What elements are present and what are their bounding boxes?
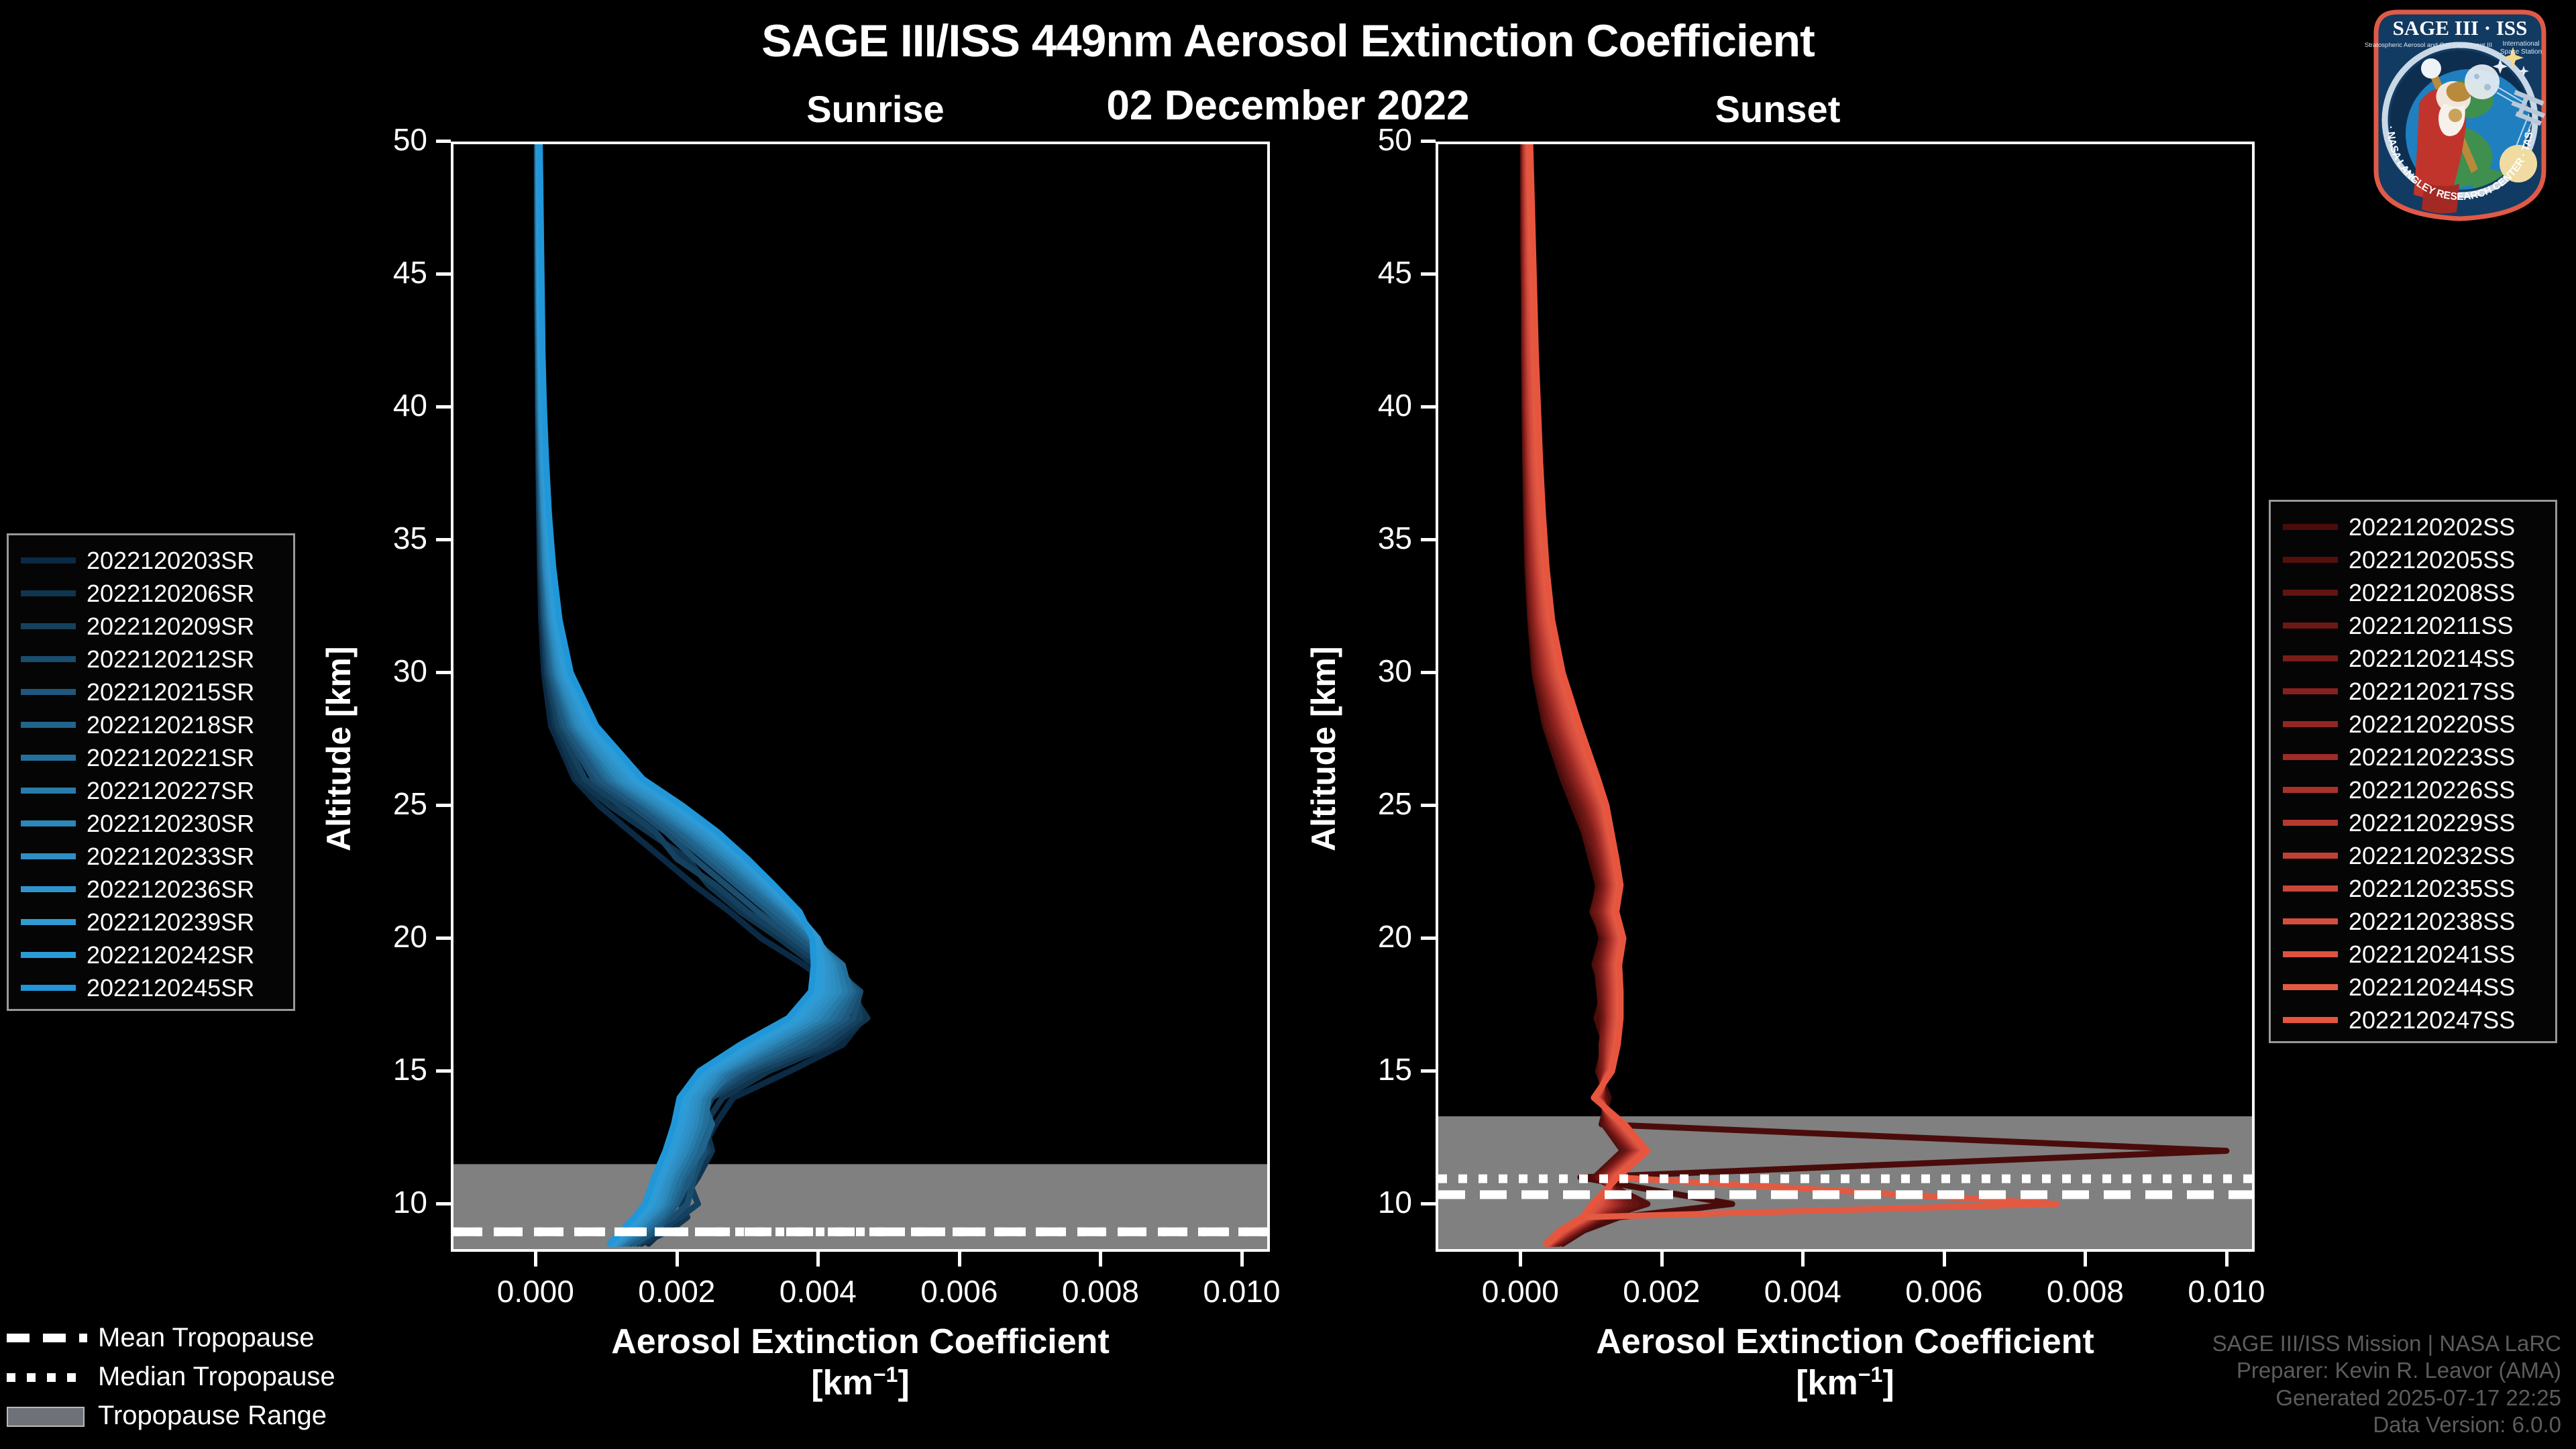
y-tickmark bbox=[1421, 405, 1436, 409]
logo-subtitle-right-2: Space Station bbox=[2500, 48, 2542, 56]
legend-item-label: 2022120233SR bbox=[87, 843, 288, 871]
legend-item[interactable]: 2022120209SR bbox=[9, 610, 293, 643]
y-tick-label: 45 bbox=[337, 254, 427, 290]
y-tickmark bbox=[1421, 140, 1436, 143]
sage-iii-iss-mission-logo: SAGE III · ISS Stratospheric Aerosol and… bbox=[2349, 3, 2571, 224]
legend-color-swatch bbox=[2283, 524, 2338, 530]
profile-line bbox=[1523, 144, 2226, 1244]
legend-item[interactable]: 2022120221SR bbox=[9, 741, 293, 774]
x-tickmark bbox=[1660, 1252, 1664, 1267]
x-tickmark bbox=[1519, 1252, 1522, 1267]
page-title: SAGE III/ISS 449nm Aerosol Extinction Co… bbox=[0, 15, 2576, 67]
y-tickmark bbox=[436, 140, 451, 143]
y-tick-label: 50 bbox=[337, 121, 427, 158]
legend-color-swatch bbox=[21, 820, 76, 826]
legend-color-swatch bbox=[2283, 590, 2338, 596]
legend-item[interactable]: 2022120214SS bbox=[2271, 642, 2555, 675]
legend-item-label: 2022120209SR bbox=[87, 612, 288, 641]
legend-color-swatch bbox=[2283, 918, 2338, 924]
credits-block: SAGE III/ISS Mission | NASA LaRC Prepare… bbox=[2212, 1330, 2561, 1438]
legend-item-label: 2022120205SS bbox=[2349, 546, 2550, 574]
legend-color-swatch bbox=[2283, 754, 2338, 760]
x-tick-label: 0.002 bbox=[596, 1273, 757, 1309]
legend-item[interactable]: 2022120230SR bbox=[9, 807, 293, 840]
legend-item-label: 2022120227SR bbox=[87, 777, 288, 805]
legend-color-swatch bbox=[2283, 623, 2338, 629]
legend-color-swatch bbox=[21, 689, 76, 695]
legend-color-swatch bbox=[2283, 984, 2338, 990]
x-tick-label: 0.008 bbox=[2004, 1273, 2165, 1309]
legend-item-label: 2022120220SS bbox=[2349, 710, 2550, 739]
legend-item-median-tropopause: Median Tropopause bbox=[7, 1357, 369, 1396]
x-axis-label-line1: Aerosol Extinction Coefficient bbox=[451, 1322, 1270, 1362]
legend-item-label: 2022120215SR bbox=[87, 678, 288, 706]
y-tickmark bbox=[436, 272, 451, 276]
legend-label-mean-tropopause: Mean Tropopause bbox=[98, 1323, 314, 1353]
y-tick-label: 40 bbox=[337, 387, 427, 423]
tropopause-legend: Mean Tropopause Median Tropopause Tropop… bbox=[7, 1318, 369, 1435]
legend-item-label: 2022120223SS bbox=[2349, 743, 2550, 771]
x-tickmark bbox=[1240, 1252, 1244, 1267]
x-tickmark bbox=[534, 1252, 537, 1267]
plot-canvas-sunrise bbox=[453, 144, 1267, 1249]
x-tickmark bbox=[2084, 1252, 2087, 1267]
legend-item[interactable]: 2022120212SR bbox=[9, 643, 293, 676]
y-tick-label: 15 bbox=[1322, 1051, 1412, 1087]
legend-item-label: 2022120244SS bbox=[2349, 973, 2550, 1002]
legend-item-tropopause-range: Tropopause Range bbox=[7, 1396, 369, 1435]
legend-item[interactable]: 2022120247SS bbox=[2271, 1004, 2555, 1036]
y-tickmark bbox=[436, 405, 451, 409]
x-tickmark bbox=[1099, 1252, 1102, 1267]
legend-color-swatch bbox=[2283, 787, 2338, 793]
legend-item[interactable]: 2022120239SR bbox=[9, 906, 293, 938]
y-tick-label: 35 bbox=[337, 520, 427, 556]
legend-color-swatch bbox=[2283, 820, 2338, 826]
series-legend-sunset[interactable]: 2022120202SS2022120205SS2022120208SS2022… bbox=[2269, 500, 2557, 1043]
legend-item[interactable]: 2022120202SS bbox=[2271, 511, 2555, 543]
legend-item[interactable]: 2022120205SS bbox=[2271, 543, 2555, 576]
x-tick-label: 0.004 bbox=[1722, 1273, 1883, 1309]
legend-item[interactable]: 2022120218SR bbox=[9, 708, 293, 741]
y-tickmark bbox=[436, 804, 451, 807]
sunset-panel-label: Sunset bbox=[1677, 87, 1878, 131]
y-tickmark bbox=[1421, 804, 1436, 807]
x-tickmark bbox=[676, 1252, 679, 1267]
credit-line-2: Preparer: Kevin R. Leavor (AMA) bbox=[2212, 1357, 2561, 1384]
legend-color-swatch bbox=[21, 755, 76, 761]
x-tick-label: 0.004 bbox=[737, 1273, 898, 1309]
legend-label-median-tropopause: Median Tropopause bbox=[98, 1362, 335, 1392]
legend-item-label: 2022120238SS bbox=[2349, 908, 2550, 936]
legend-color-swatch bbox=[2283, 655, 2338, 661]
legend-color-swatch bbox=[21, 788, 76, 794]
y-tickmark bbox=[1421, 936, 1436, 940]
legend-item[interactable]: 2022120232SS bbox=[2271, 839, 2555, 872]
legend-item[interactable]: 2022120242SR bbox=[9, 938, 293, 971]
y-tickmark bbox=[1421, 1069, 1436, 1073]
x-tickmark bbox=[816, 1252, 820, 1267]
legend-item-label: 2022120232SS bbox=[2349, 842, 2550, 870]
x-axis-label-line1: Aerosol Extinction Coefficient bbox=[1436, 1322, 2255, 1362]
y-tickmark bbox=[436, 1202, 451, 1205]
legend-item-label: 2022120211SS bbox=[2349, 612, 2550, 640]
legend-item[interactable]: 2022120244SS bbox=[2271, 971, 2555, 1004]
legend-color-swatch bbox=[21, 623, 76, 629]
legend-item[interactable]: 2022120229SS bbox=[2271, 806, 2555, 839]
y-tick-label: 35 bbox=[1322, 520, 1412, 556]
series-legend-sunrise[interactable]: 2022120203SR2022120206SR2022120209SR2022… bbox=[7, 533, 295, 1011]
legend-item-mean-tropopause: Mean Tropopause bbox=[7, 1318, 369, 1357]
filled-box-icon bbox=[7, 1407, 87, 1424]
legend-item-label: 2022120245SR bbox=[87, 974, 288, 1002]
legend-color-swatch bbox=[2283, 1017, 2338, 1023]
legend-item[interactable]: 2022120223SS bbox=[2271, 741, 2555, 773]
legend-color-swatch bbox=[21, 886, 76, 892]
legend-color-swatch bbox=[21, 952, 76, 958]
x-tickmark bbox=[1801, 1252, 1805, 1267]
legend-color-swatch bbox=[2283, 853, 2338, 859]
x-axis-label: Aerosol Extinction Coefficient[km−1] bbox=[451, 1322, 1270, 1403]
x-tick-label: 0.010 bbox=[2146, 1273, 2307, 1309]
legend-color-swatch bbox=[21, 853, 76, 859]
x-tick-label: 0.000 bbox=[1440, 1273, 1601, 1309]
y-tickmark bbox=[1421, 538, 1436, 541]
y-tick-label: 45 bbox=[1322, 254, 1412, 290]
sunrise-panel-label: Sunrise bbox=[775, 87, 976, 131]
legend-color-swatch bbox=[2283, 557, 2338, 563]
legend-item[interactable]: 2022120215SR bbox=[9, 676, 293, 708]
legend-item-label: 2022120235SS bbox=[2349, 875, 2550, 903]
legend-item-label: 2022120241SS bbox=[2349, 941, 2550, 969]
legend-color-swatch bbox=[21, 919, 76, 925]
credit-line-3: Generated 2025-07-17 22:25 bbox=[2212, 1385, 2561, 1411]
legend-item-label: 2022120203SR bbox=[87, 547, 288, 575]
credit-line-4: Data Version: 6.0.0 bbox=[2212, 1411, 2561, 1438]
legend-item[interactable]: 2022120245SR bbox=[9, 971, 293, 1004]
legend-item[interactable]: 2022120238SS bbox=[2271, 905, 2555, 938]
plot-canvas-sunset bbox=[1438, 144, 2252, 1249]
legend-color-swatch bbox=[2283, 885, 2338, 892]
legend-item-label: 2022120202SS bbox=[2349, 513, 2550, 541]
legend-item-label: 2022120239SR bbox=[87, 908, 288, 936]
legend-color-swatch bbox=[21, 590, 76, 596]
x-axis-label-units: [km−1] bbox=[1436, 1362, 2255, 1403]
legend-color-swatch bbox=[2283, 951, 2338, 957]
legend-item-label: 2022120212SR bbox=[87, 645, 288, 674]
legend-item-label: 2022120218SR bbox=[87, 711, 288, 739]
x-axis-label: Aerosol Extinction Coefficient[km−1] bbox=[1436, 1322, 2255, 1403]
credit-line-1: SAGE III/ISS Mission | NASA LaRC bbox=[2212, 1330, 2561, 1357]
y-axis-label: Altitude [km] bbox=[1304, 646, 1343, 851]
logo-title: SAGE III · ISS bbox=[2393, 16, 2528, 40]
x-tick-label: 0.000 bbox=[455, 1273, 616, 1309]
legend-label-tropopause-range: Tropopause Range bbox=[98, 1401, 327, 1431]
x-tickmark bbox=[958, 1252, 961, 1267]
y-tickmark bbox=[436, 1069, 451, 1073]
legend-item-label: 2022120226SS bbox=[2349, 776, 2550, 804]
legend-item-label: 2022120214SS bbox=[2349, 645, 2550, 673]
legend-color-swatch bbox=[21, 722, 76, 728]
legend-item-label: 2022120247SS bbox=[2349, 1006, 2550, 1034]
y-tick-label: 20 bbox=[1322, 918, 1412, 955]
legend-item[interactable]: 2022120227SR bbox=[9, 774, 293, 807]
y-tick-label: 10 bbox=[337, 1184, 427, 1220]
legend-item[interactable]: 2022120233SR bbox=[9, 840, 293, 873]
x-tick-label: 0.006 bbox=[879, 1273, 1040, 1309]
y-tickmark bbox=[1421, 1202, 1436, 1205]
y-tick-label: 40 bbox=[1322, 387, 1412, 423]
y-tickmark bbox=[436, 538, 451, 541]
x-tick-label: 0.002 bbox=[1581, 1273, 1742, 1309]
legend-item[interactable]: 2022120217SS bbox=[2271, 675, 2555, 708]
legend-item-label: 2022120229SS bbox=[2349, 809, 2550, 837]
logo-subtitle-right-1: International bbox=[2502, 40, 2539, 48]
y-tickmark bbox=[1421, 272, 1436, 276]
legend-color-swatch bbox=[21, 656, 76, 662]
legend-color-swatch bbox=[2283, 721, 2338, 727]
y-tickmark bbox=[436, 671, 451, 674]
legend-item-label: 2022120206SR bbox=[87, 580, 288, 608]
legend-item-label: 2022120236SR bbox=[87, 875, 288, 904]
legend-item-label: 2022120242SR bbox=[87, 941, 288, 969]
legend-item[interactable]: 2022120235SS bbox=[2271, 872, 2555, 905]
x-tick-label: 0.008 bbox=[1020, 1273, 1181, 1309]
legend-item[interactable]: 2022120208SS bbox=[2271, 576, 2555, 609]
legend-item[interactable]: 2022120206SR bbox=[9, 577, 293, 610]
y-tickmark bbox=[1421, 671, 1436, 674]
x-tickmark bbox=[2225, 1252, 2229, 1267]
logo-subtitle-left: Stratospheric Aerosol and Gas Experiment… bbox=[2365, 42, 2492, 49]
y-tick-label: 50 bbox=[1322, 121, 1412, 158]
legend-item-label: 2022120230SR bbox=[87, 810, 288, 838]
y-tick-label: 15 bbox=[337, 1051, 427, 1087]
legend-color-swatch bbox=[21, 985, 76, 991]
y-axis-label: Altitude [km] bbox=[319, 646, 358, 851]
x-tickmark bbox=[1943, 1252, 1946, 1267]
legend-item[interactable]: 2022120236SR bbox=[9, 873, 293, 906]
tropopause-range-band bbox=[453, 1164, 1267, 1249]
legend-item-label: 2022120208SS bbox=[2349, 579, 2550, 607]
y-tick-label: 10 bbox=[1322, 1184, 1412, 1220]
legend-item[interactable]: 2022120203SR bbox=[9, 544, 293, 577]
y-tickmark bbox=[436, 936, 451, 940]
legend-color-swatch bbox=[21, 557, 76, 563]
legend-item[interactable]: 2022120241SS bbox=[2271, 938, 2555, 971]
legend-item[interactable]: 2022120226SS bbox=[2271, 773, 2555, 806]
dashed-line-icon bbox=[7, 1329, 87, 1346]
x-axis-label-units: [km−1] bbox=[451, 1362, 1270, 1403]
legend-item[interactable]: 2022120220SS bbox=[2271, 708, 2555, 741]
y-tick-label: 20 bbox=[337, 918, 427, 955]
x-tick-label: 0.010 bbox=[1161, 1273, 1322, 1309]
x-tick-label: 0.006 bbox=[1864, 1273, 2025, 1309]
legend-item[interactable]: 2022120211SS bbox=[2271, 609, 2555, 642]
legend-color-swatch bbox=[2283, 688, 2338, 694]
dotted-line-icon bbox=[7, 1368, 87, 1385]
legend-item-label: 2022120217SS bbox=[2349, 678, 2550, 706]
legend-item-label: 2022120221SR bbox=[87, 744, 288, 772]
